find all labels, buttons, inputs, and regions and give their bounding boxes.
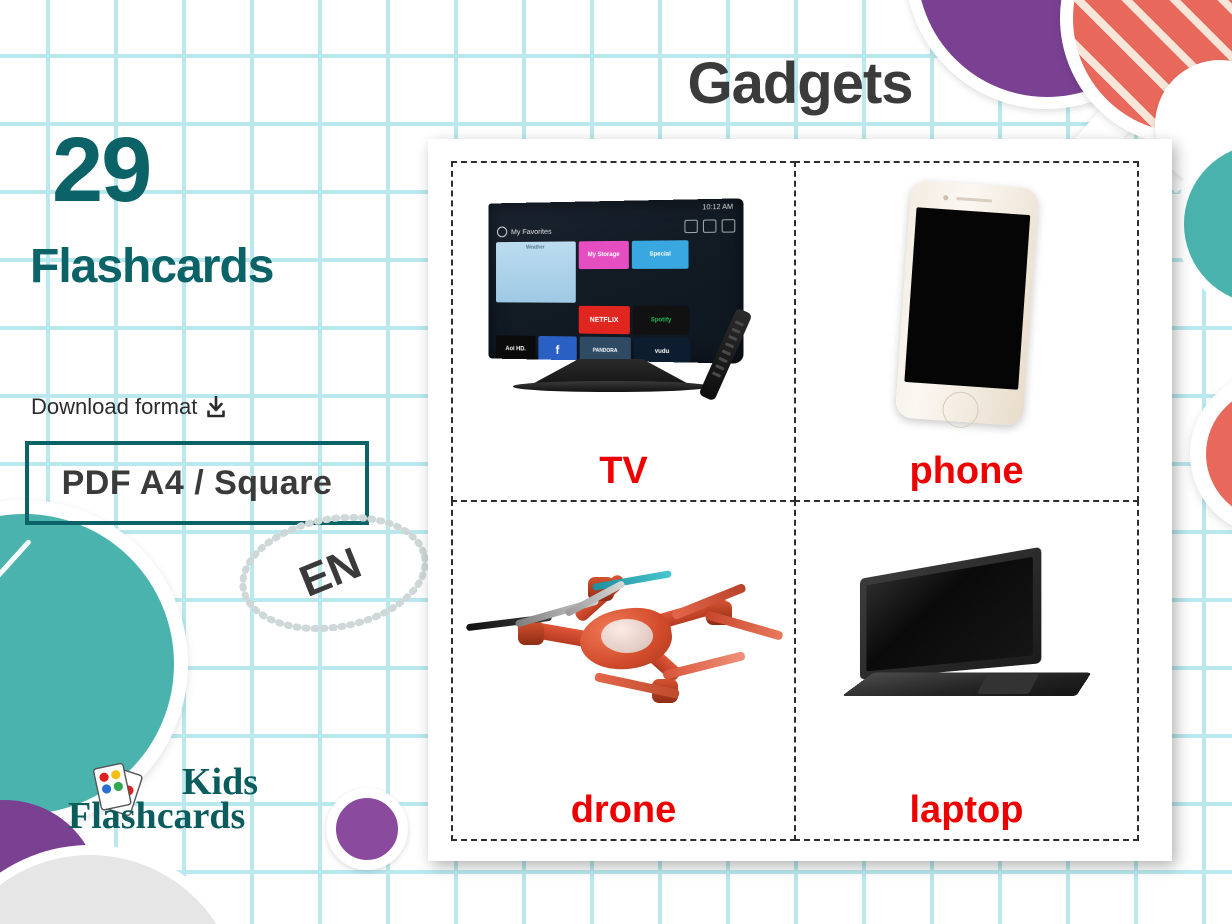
site-logo[interactable]: Kids Flashcards <box>78 758 378 844</box>
tv-status-icons <box>684 219 735 233</box>
decor-teal-stripe-top-right <box>1173 157 1207 194</box>
logo-line-2: Flashcards <box>68 794 245 838</box>
format-value: PDF A4 / Square <box>62 464 333 503</box>
download-format-label: Download format <box>31 394 227 420</box>
page-background: 29 Flashcards Download format PDF A4 / S… <box>0 0 1232 924</box>
page-title: Gadgets <box>430 50 1170 117</box>
laptop-computer-illustration <box>796 502 1137 781</box>
flashcard-label-drone: drone <box>571 791 677 829</box>
flashcard-laptop[interactable]: laptop <box>794 500 1139 841</box>
flashcards-grid: 10:12 AM My Favorites Weather <box>452 162 1138 840</box>
flashcard-label-phone: phone <box>910 452 1024 490</box>
flashcard-tv[interactable]: 10:12 AM My Favorites Weather <box>451 161 796 502</box>
decor-grey-circle-bottom-left <box>0 845 250 924</box>
flashcard-label-tv: TV <box>599 452 648 490</box>
flashcard-count-label: Flashcards <box>30 243 273 291</box>
language-badge: EN <box>236 512 432 634</box>
flashcard-label-laptop: laptop <box>910 791 1024 829</box>
tv-time: 10:12 AM <box>702 204 733 212</box>
quadcopter-drone-illustration <box>453 502 794 781</box>
flashcard-phone[interactable]: phone <box>794 161 1139 502</box>
flashcard-drone[interactable]: drone <box>451 500 796 841</box>
download-icon <box>205 395 227 419</box>
tv-app-tiles: Weather My Storage Special NETFLIX <box>496 240 692 364</box>
decor-coral-ring-right-edge <box>1190 372 1232 536</box>
smart-tv-illustration: 10:12 AM My Favorites Weather <box>453 163 794 442</box>
smartphone-illustration <box>796 163 1137 442</box>
flashcards-panel: 10:12 AM My Favorites Weather <box>428 139 1172 861</box>
decor-teal-circle-top-right <box>1175 135 1232 313</box>
tv-favorites-label: My Favorites <box>496 226 551 237</box>
flashcard-count: 29 <box>52 124 150 216</box>
download-format-text: Download format <box>31 394 197 420</box>
